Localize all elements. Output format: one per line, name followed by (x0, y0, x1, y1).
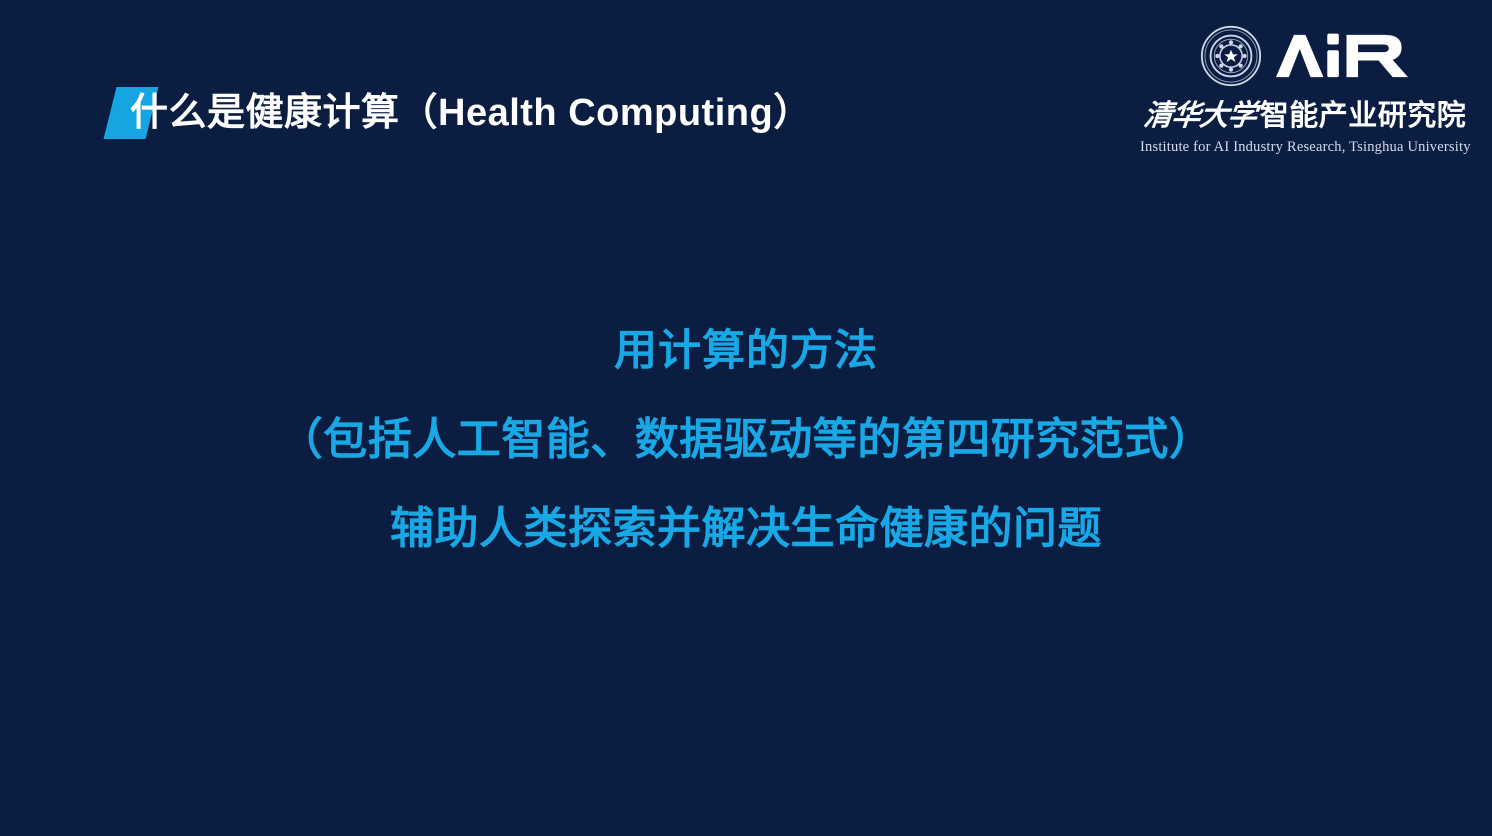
logo-organization-en: Institute for AI Industry Research, Tsin… (1140, 139, 1470, 156)
air-wordmark-icon (1276, 31, 1411, 81)
logo-mark-row (1140, 22, 1470, 90)
body-line-3: 辅助人类探索并解决生命健康的问题 (0, 507, 1492, 551)
logo-organization-cn: 清华大学 智能产业研究院 (1140, 92, 1470, 134)
logo-university-name: 清华大学 (1142, 92, 1258, 134)
body-line-2: （包括人工智能、数据驱动等的第四研究范式） (0, 418, 1492, 462)
presentation-slide: 什么是健康计算（Health Computing） (0, 0, 1492, 836)
body-line-1: 用计算的方法 (0, 330, 1492, 373)
air-tsinghua-logo: 清华大学 智能产业研究院 Institute for AI Industry R… (1140, 22, 1470, 156)
page-title: 什么是健康计算（Health Computing） (130, 94, 812, 132)
tsinghua-seal-icon (1200, 25, 1262, 87)
slide-body: 用计算的方法 （包括人工智能、数据驱动等的第四研究范式） 辅助人类探索并解决生命… (0, 330, 1492, 551)
slide-title-row: 什么是健康计算（Health Computing） (110, 82, 812, 144)
logo-institute-name: 智能产业研究院 (1260, 92, 1467, 134)
